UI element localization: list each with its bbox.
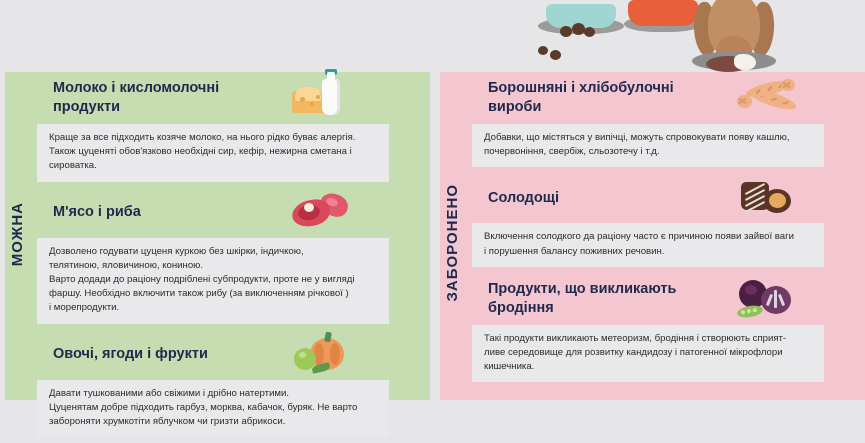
pumpkin-segment <box>330 343 340 365</box>
pea-seed <box>741 310 746 315</box>
pea-seed <box>753 308 758 313</box>
milk-bottle <box>322 79 340 115</box>
forbidden-column: ЗАБОРОНЕНО Борошняні і хлібобулочні виро… <box>440 72 865 400</box>
card-bakery-body: Добавки, що містяться у випічці, можуть … <box>472 124 824 167</box>
kibble-piece <box>572 23 585 35</box>
card-sweets-title: Солодощі <box>488 189 559 208</box>
card-fermenting-foods[interactable]: Продукти, що викликають бродіння <box>472 273 865 383</box>
card-dairy-body: Краще за все підходить козяче молоко, на… <box>37 124 389 182</box>
kibble-piece <box>550 50 561 60</box>
pea-pod <box>736 304 764 319</box>
cabbage-half <box>761 286 791 314</box>
cabbage-and-peas-icon <box>737 278 799 320</box>
bread-roll <box>781 79 795 91</box>
bowl-dish-orange <box>628 0 698 26</box>
card-dairy-title: Молоко і кисломолочні продукти <box>53 79 219 116</box>
card-sweets[interactable]: Солодощі Включення солодкого да ра <box>472 173 865 266</box>
cabbage-vein <box>774 290 777 308</box>
bread-roll <box>737 95 752 108</box>
cheese-hole <box>300 97 305 102</box>
chocolate-filling <box>769 193 786 208</box>
infographic-canvas: МОЖНА Молоко і кисломолочні продукти <box>0 0 865 400</box>
forbidden-column-label: ЗАБОРОНЕНО <box>444 184 461 302</box>
chocolates-icon <box>737 177 799 219</box>
card-vegetables-header: Овочі, ягоди і фрукти <box>37 330 382 380</box>
cabbage-highlight <box>745 285 757 295</box>
card-meat-fish-body: Дозволено годувати цуценя куркою без шкі… <box>37 238 389 324</box>
forbidden-card-list: Борошняні і хлібобулочні вироби <box>472 72 865 388</box>
bread-icon <box>737 77 799 119</box>
allowed-card-list: Молоко і кисломолочні продукти Краще за … <box>37 72 430 443</box>
card-vegetables-title: Овочі, ягоди і фрукти <box>53 345 208 364</box>
card-bakery-title: Борошняні і хлібобулочні вироби <box>488 79 674 116</box>
card-meat-fish-title: М'ясо і риба <box>53 203 141 222</box>
header-illustration <box>0 0 865 72</box>
card-vegetables[interactable]: Овочі, ягоди і фрукти Давати тушкованими… <box>37 330 430 438</box>
card-dairy[interactable]: Молоко і кисломолочні продукти Краще за … <box>37 72 430 182</box>
meat-steak-bone <box>304 203 314 212</box>
meat-and-fish-icon <box>292 192 354 234</box>
baguette-slash <box>771 98 777 102</box>
card-meat-fish-header: М'ясо і риба <box>37 188 382 238</box>
card-sweets-body: Включення солодкого да раціону часто є п… <box>472 223 824 266</box>
card-vegetables-body: Давати тушкованими або свіжими і дрібно … <box>37 380 389 438</box>
vegetables-and-fruits-icon <box>292 334 354 376</box>
kibble-piece <box>584 27 595 37</box>
baguette-slash <box>756 88 761 94</box>
kibble-piece <box>560 26 572 37</box>
pea-seed <box>747 309 752 314</box>
baguette-slash <box>767 86 772 92</box>
cabbage-vein <box>778 294 785 306</box>
allowed-column: МОЖНА Молоко і кисломолочні продукти <box>5 72 430 400</box>
card-meat-fish[interactable]: М'ясо і риба Дозволено годувати цуценя к… <box>37 188 430 324</box>
card-sweets-header: Солодощі <box>472 173 827 223</box>
card-bakery-header: Борошняні і хлібобулочні вироби <box>472 72 827 124</box>
cheese-hole <box>316 95 320 99</box>
cheese-hole <box>310 102 314 106</box>
chocolate-square <box>741 182 769 210</box>
bone-icon <box>734 54 756 70</box>
card-fermenting-foods-body: Такі продукти викликають метеоризм, брод… <box>472 325 824 383</box>
allowed-column-label: МОЖНА <box>9 202 26 266</box>
kibble-piece <box>538 46 548 55</box>
apple-highlight <box>299 352 306 358</box>
card-fermenting-foods-header: Продукти, що викликають бродіння <box>472 273 827 325</box>
card-fermenting-foods-title: Продукти, що викликають бродіння <box>488 280 676 317</box>
milk-and-cheese-icon <box>292 77 354 119</box>
baguette-slash <box>782 101 788 105</box>
cabbage-vein <box>766 294 773 306</box>
card-bakery[interactable]: Борошняні і хлібобулочні вироби <box>472 72 865 167</box>
card-dairy-header: Молоко і кисломолочні продукти <box>37 72 382 124</box>
